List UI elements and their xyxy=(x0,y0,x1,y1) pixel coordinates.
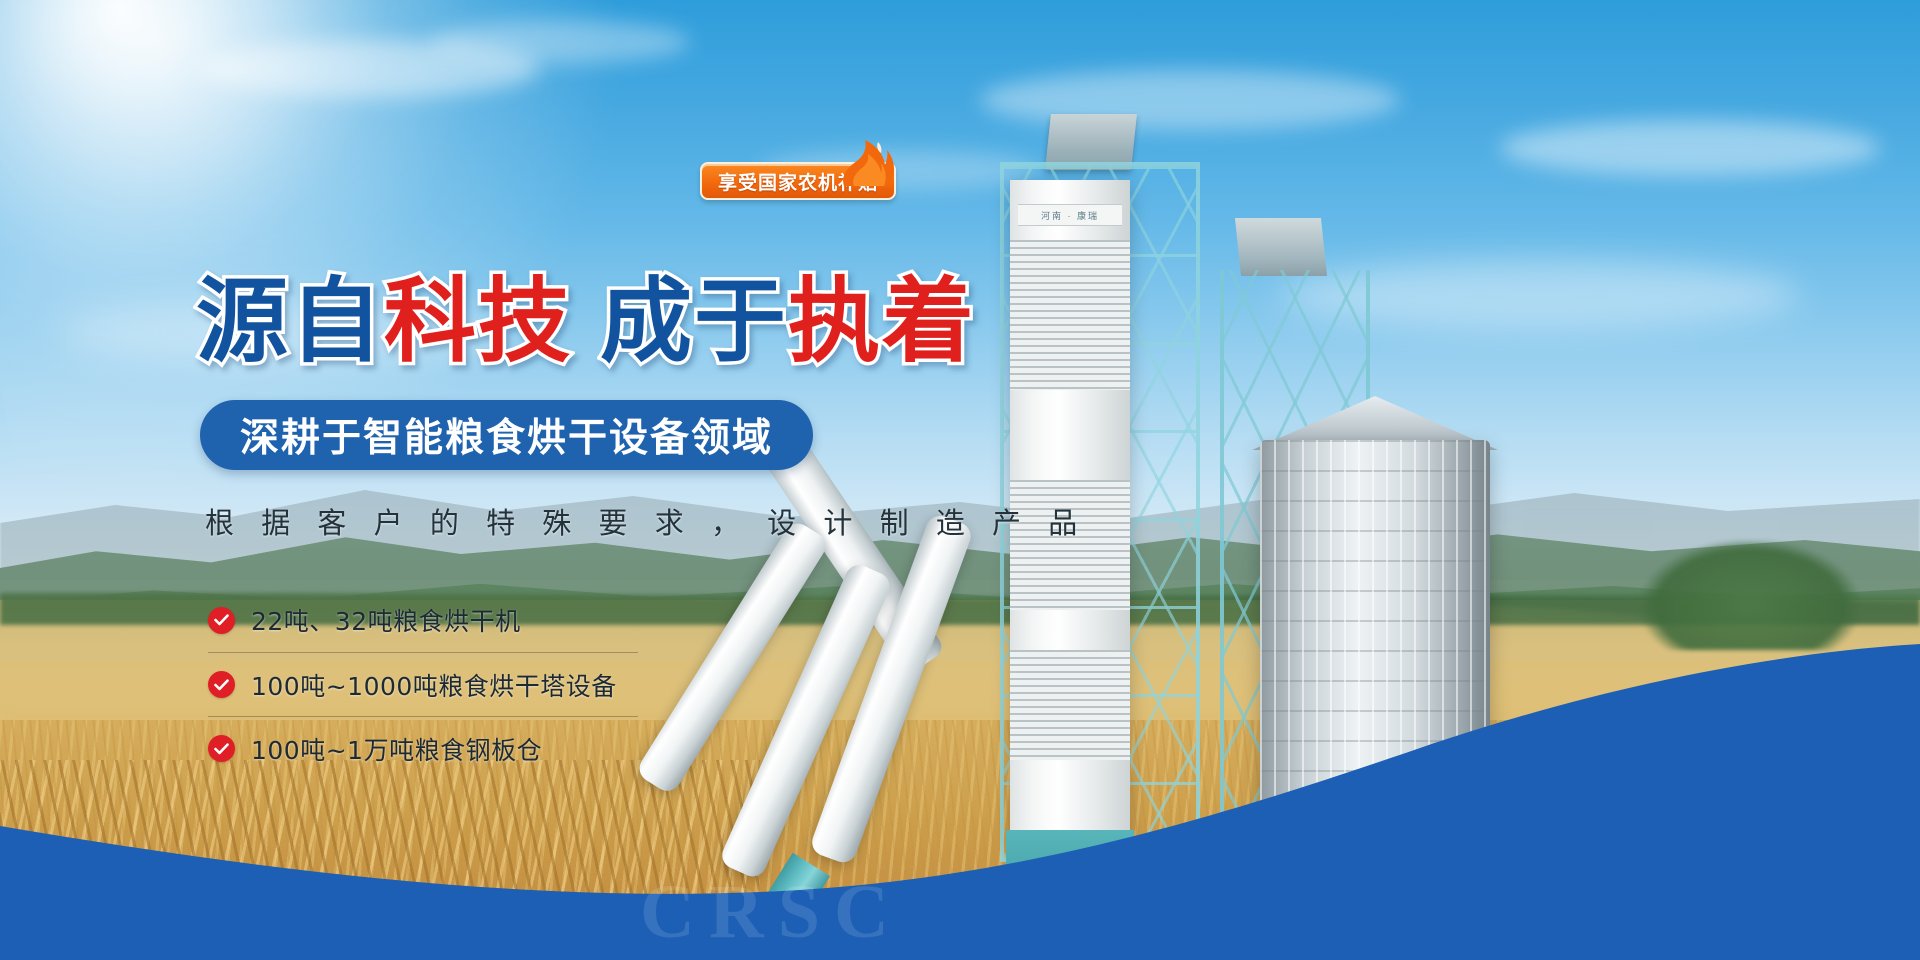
promo-banner: 河南 · 康瑞 CRSC 享受国家农机补贴 xyxy=(0,0,1920,960)
feature-item: 100吨~1000吨粮食烘干塔设备 xyxy=(208,652,638,716)
subsidy-badge-wrapper: 享受国家农机补贴 xyxy=(700,162,896,200)
check-circle-icon xyxy=(208,607,235,634)
feature-item: 100吨~1万吨粮食钢板仓 xyxy=(208,716,638,780)
lattice-tower-cap xyxy=(1235,218,1327,276)
feature-item-label: 22吨、32吨粮食烘干机 xyxy=(251,602,521,638)
subsidy-badge[interactable]: 享受国家农机补贴 xyxy=(700,162,896,200)
headline-part-3: 成于 xyxy=(600,276,788,368)
dryer-tower-sign: 河南 · 康瑞 xyxy=(1018,204,1122,226)
dryer-louvre-panel xyxy=(1010,650,1130,760)
subtitle-pill-label: 深耕于智能粮食烘干设备领域 xyxy=(240,407,773,463)
feature-item-label: 100吨~1000吨粮食烘干塔设备 xyxy=(251,667,617,703)
dryer-tower-sign-text: 河南 · 康瑞 xyxy=(1041,209,1099,222)
check-circle-icon xyxy=(208,735,235,762)
check-circle-icon xyxy=(208,671,235,698)
dryer-louvre-panel xyxy=(1010,240,1130,390)
subtitle-pill: 深耕于智能粮食烘干设备领域 xyxy=(200,400,813,470)
feature-item: 22吨、32吨粮食烘干机 xyxy=(208,588,638,652)
banner-content: 享受国家农机补贴 源自科技成于执着 深耕于智能粮食烘干设备领域 根 据 客 户 … xyxy=(0,0,900,960)
subsidy-badge-label: 享受国家农机补贴 xyxy=(718,168,878,195)
headline-part-1: 源自 xyxy=(196,276,384,368)
feature-list: 22吨、32吨粮食烘干机 100吨~1000吨粮食烘干塔设备 100吨~1万吨粮… xyxy=(208,588,638,780)
headline-part-2: 科技 xyxy=(384,276,572,368)
description-text: 根 据 客 户 的 特 殊 要 求 ， 设 计 制 造 产 品 xyxy=(205,500,1086,542)
headline-part-4: 执着 xyxy=(788,276,976,368)
headline: 源自科技成于执着 xyxy=(196,276,976,368)
feature-item-label: 100吨~1万吨粮食钢板仓 xyxy=(251,731,542,767)
